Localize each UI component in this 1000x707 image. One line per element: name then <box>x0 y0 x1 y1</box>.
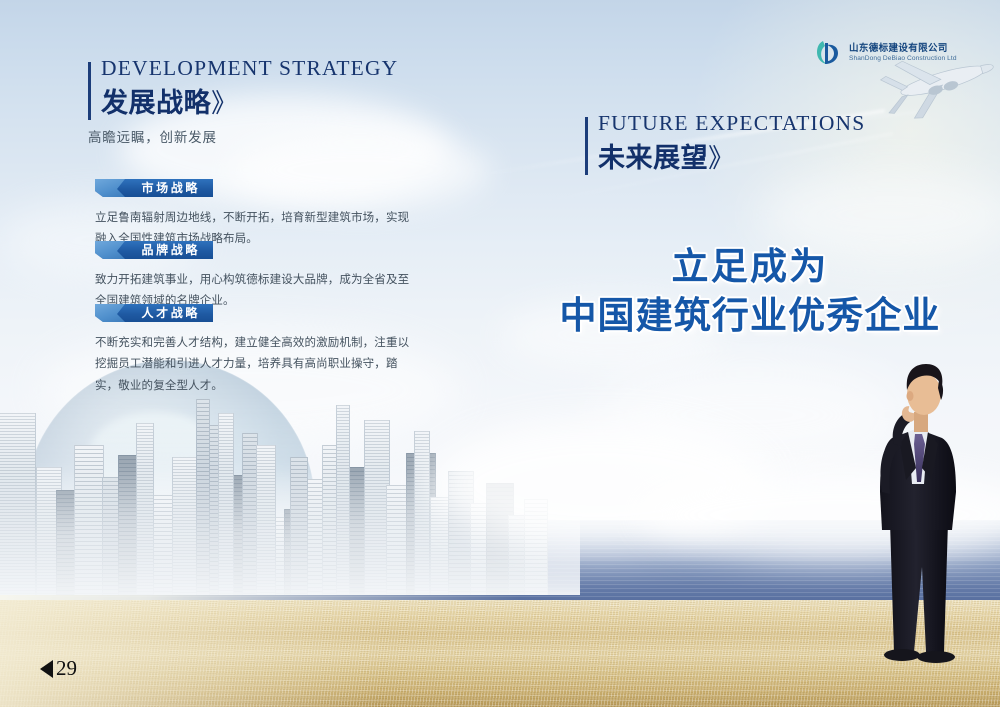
heading-cn-text: 未来展望 <box>598 143 708 173</box>
slogan-line-1: 立足成为 <box>545 243 955 292</box>
heading-cn: 未来展望》 <box>585 145 865 172</box>
heading-accent-bar <box>585 117 588 175</box>
slogan: 立足成为 中国建筑行业优秀企业 <box>545 243 955 341</box>
airplane-icon <box>880 42 998 126</box>
page-number-value: 29 <box>56 658 77 679</box>
heading-cn-text: 发展战略 <box>101 88 211 118</box>
strategy-tab-label: 市场战略 <box>141 182 213 194</box>
strategy-tab-label: 品牌战略 <box>141 244 213 256</box>
slogan-line-2: 中国建筑行业优秀企业 <box>545 292 955 341</box>
page-triangle-icon <box>40 660 53 678</box>
page-number: 29 <box>40 658 77 679</box>
strategy-tab: 市场战略 <box>95 179 213 197</box>
strategy-block-body: 不断充实和完善人才结构，建立健全高效的激励机制，注重以挖掘员工潜能和引进人才力量… <box>95 333 417 397</box>
sand-beach <box>0 600 1000 707</box>
heading-arrow-icon: 》 <box>211 88 236 118</box>
strategy-tab: 人才战略 <box>95 304 213 322</box>
brochure-page: 山东德标建设有限公司 ShanDong DeBiao Construction … <box>0 0 1000 707</box>
development-strategy-heading: DEVELOPMENT STRATEGY 发展战略》 <box>88 58 398 117</box>
sand-left-fade <box>0 600 380 707</box>
strategy-block-brand: 品牌战略 致力开拓建筑事业，用心构筑德标建设大品牌，成为全省及至全国建筑领域的名… <box>95 241 425 313</box>
debiao-logo-mark-icon <box>812 38 842 68</box>
strategy-tab: 品牌战略 <box>95 241 213 259</box>
development-strategy-subtitle: 高瞻远瞩，创新发展 <box>88 126 217 146</box>
businessman-photo <box>852 352 992 682</box>
future-expectations-heading: FUTURE EXPECTATIONS 未来展望》 <box>585 113 865 172</box>
strategy-block-talent: 人才战略 不断充实和完善人才结构，建立健全高效的激励机制，注重以挖掘员工潜能和引… <box>95 304 425 397</box>
heading-accent-bar <box>88 62 91 120</box>
strategy-tab-label: 人才战略 <box>141 307 213 319</box>
heading-en: FUTURE EXPECTATIONS <box>585 113 865 135</box>
heading-en: DEVELOPMENT STRATEGY <box>88 58 398 80</box>
heading-cn: 发展战略》 <box>88 90 398 117</box>
strategy-block-market: 市场战略 立足鲁南辐射周边地线，不断开拓，培育新型建筑市场，实现融入全国性建筑市… <box>95 179 425 251</box>
heading-arrow-icon: 》 <box>708 143 733 173</box>
